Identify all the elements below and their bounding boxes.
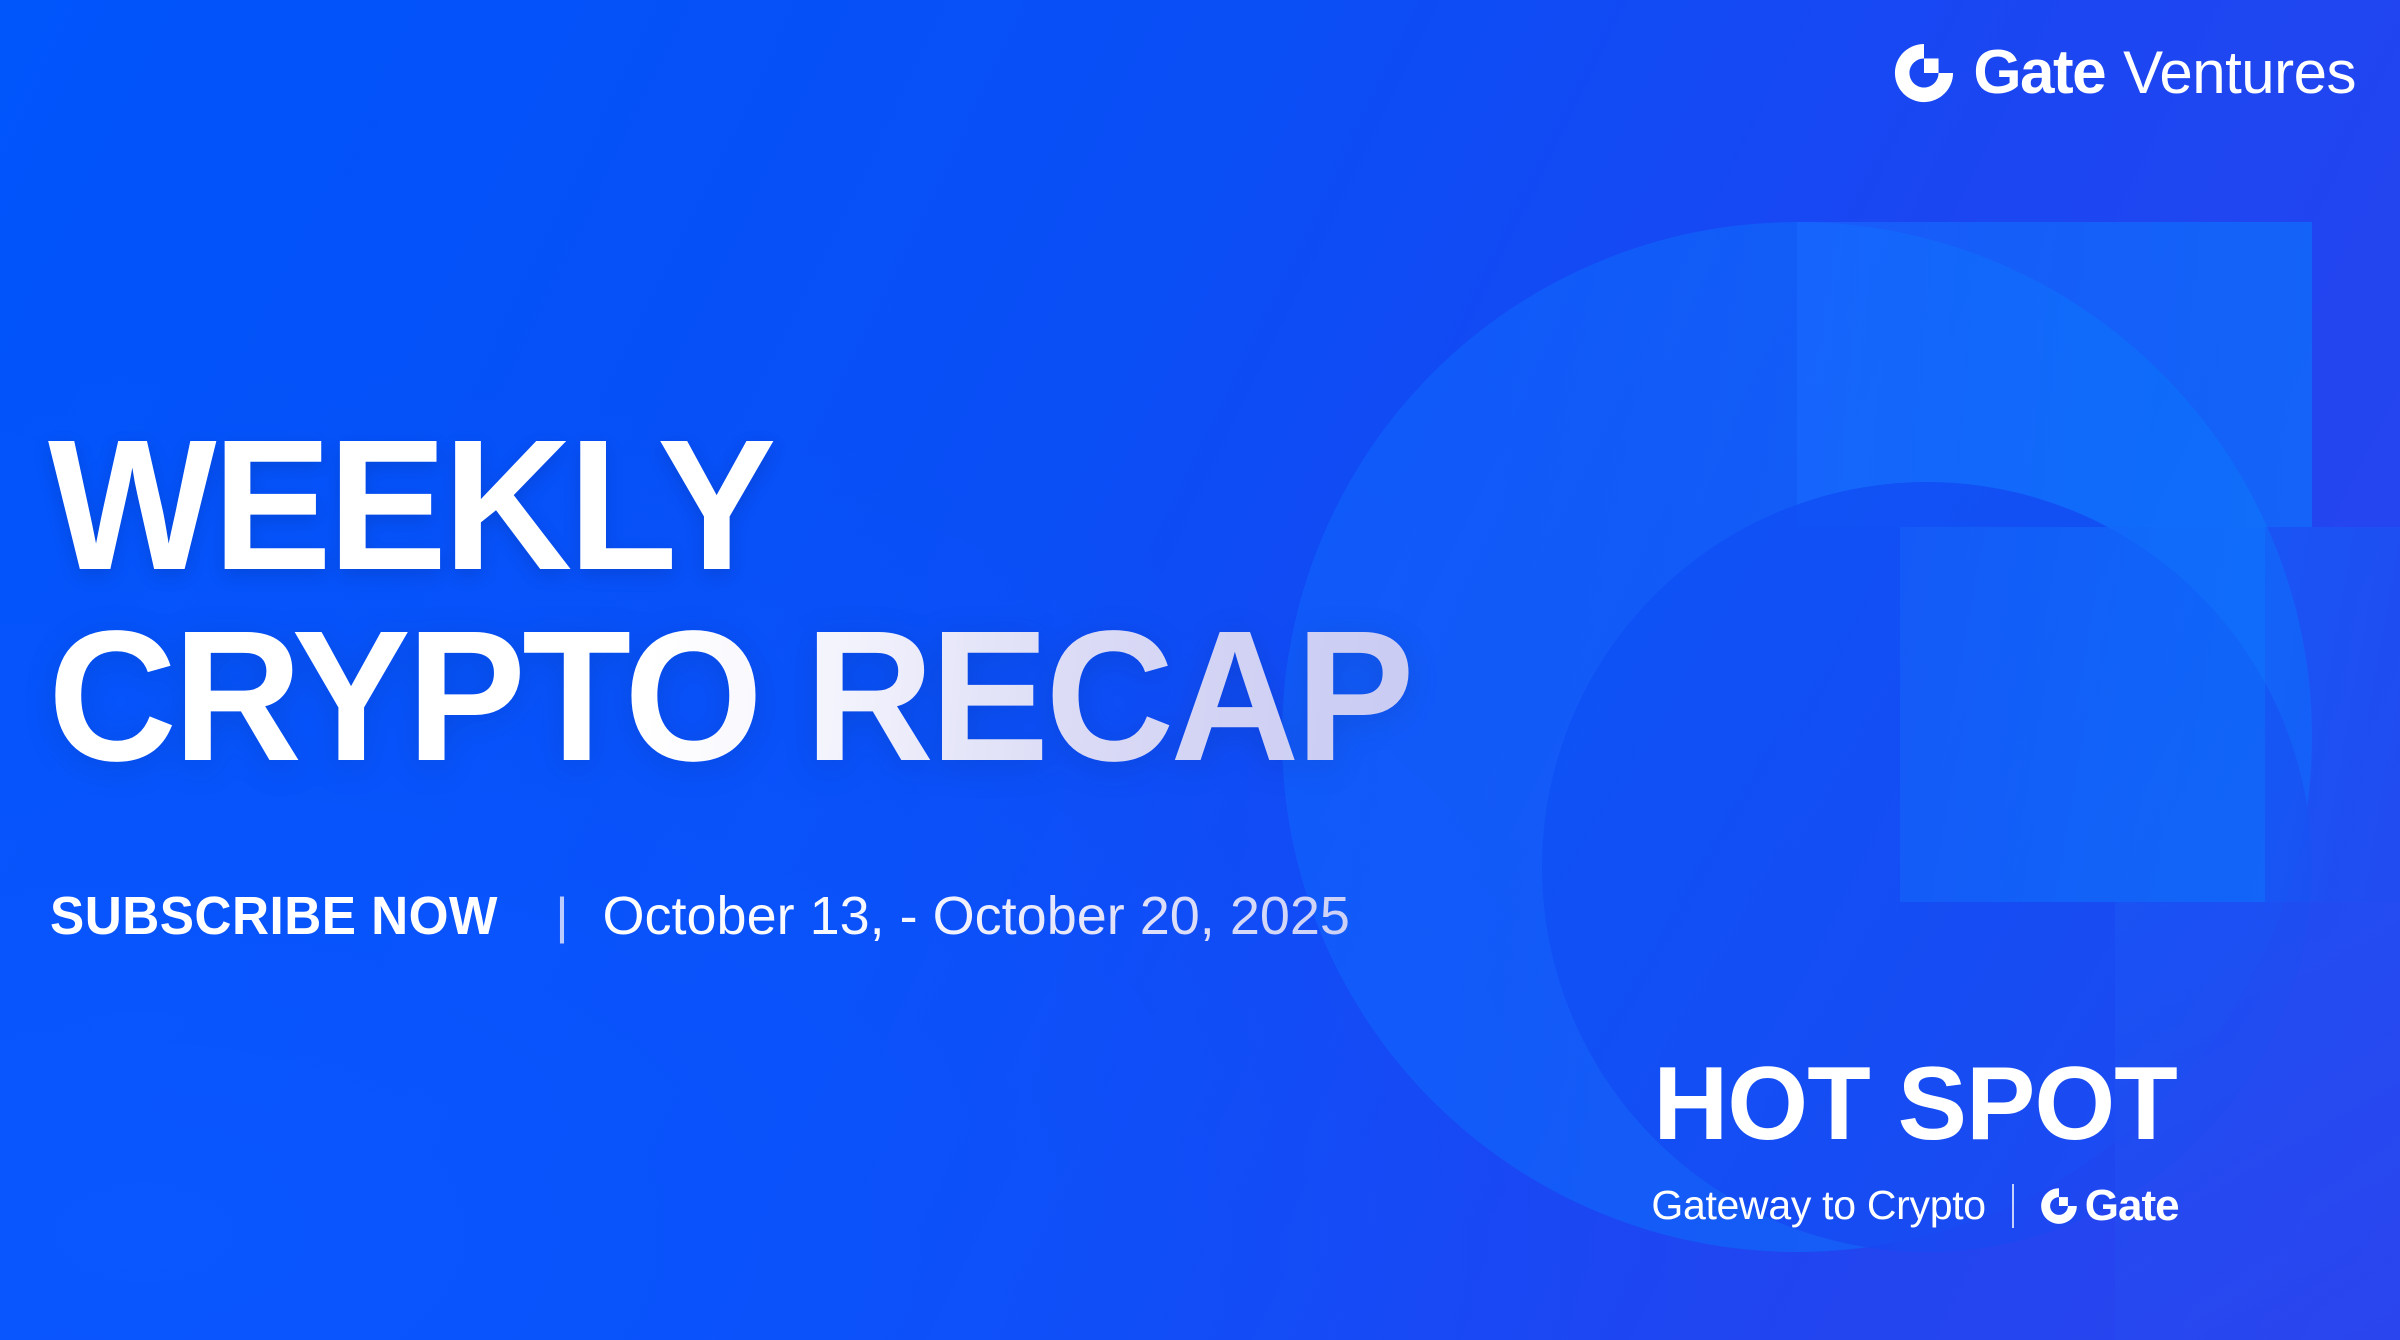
date-range-label: October 13, - October 20, 2025 [603,885,1350,947]
watermark-quadrant [1797,222,2312,527]
hot-spot-tagline: Gateway to Crypto [1651,1182,1985,1229]
hot-spot-title: HOT SPOT [1570,1052,2260,1156]
brand-suffix: Ventures [2123,43,2356,103]
headline-line-1: WEEKLY [48,418,1411,595]
brand-name: Gate [1973,42,2105,104]
divider [2012,1184,2014,1228]
gate-ventures-logo[interactable]: Gate Ventures [1893,42,2356,104]
hot-spot-lockup: HOT SPOT Gateway to Crypto Gate [1570,1052,2260,1229]
divider: | [552,887,573,945]
gate-logo[interactable]: Gate [2040,1184,2179,1228]
weekly-crypto-recap-banner: Gate Ventures WEEKLY CRYPTO RECAP SUBSCR… [0,0,2400,1340]
gate-g-logo-icon [2040,1187,2078,1225]
page-title: WEEKLY CRYPTO RECAP [48,418,1468,785]
hot-spot-subline: Gateway to Crypto Gate [1570,1182,2260,1229]
subscribe-now-label[interactable]: SUBSCRIBE NOW [50,885,498,947]
gate-brand-name: Gate [2085,1184,2179,1228]
gate-g-logo-icon [1893,42,1955,104]
watermark-square-edge [2265,527,2400,902]
watermark-square [1900,527,2265,902]
subscribe-date-line: SUBSCRIBE NOW | October 13, - October 20… [50,885,1350,947]
headline-line-2: CRYPTO RECAP [48,609,1411,786]
